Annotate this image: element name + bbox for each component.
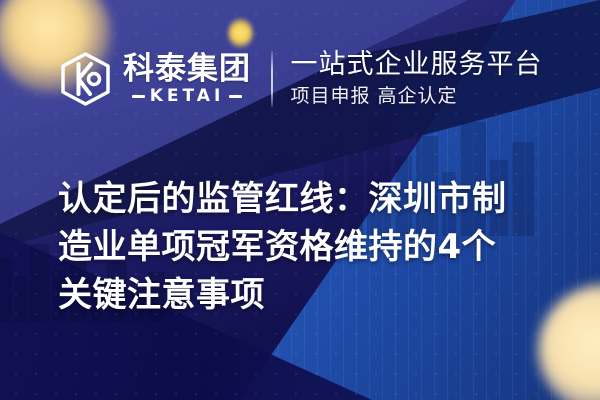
brand-logo[interactable]: 科泰集团 KETAI — [58, 51, 251, 107]
wordmark-rule-left — [132, 95, 145, 98]
page-title: 认定后的监管红线：深圳市制造业单项冠军资格维持的4个关键注意事项 — [58, 175, 528, 320]
tagline-sub: 项目申报 高企认定 — [291, 85, 543, 108]
brand-name-cn: 科泰集团 — [123, 53, 251, 86]
brand-wordmark: 科泰集团 KETAI — [123, 53, 251, 105]
wordmark-rule-right — [229, 95, 242, 98]
header-divider — [271, 51, 273, 107]
brand-name-en-row: KETAI — [132, 88, 243, 105]
tagline-main: 一站式企业服务平台 — [291, 50, 543, 80]
promo-banner: 科泰集团 KETAI 一站式企业服务平台 项目申报 高企认定 认定后的监管红线：… — [0, 0, 600, 400]
brand-name-en: KETAI — [150, 88, 225, 105]
ketai-kp-diamond-logo-icon — [58, 51, 113, 107]
brand-tagline: 一站式企业服务平台 项目申报 高企认定 — [291, 50, 543, 107]
banner-header: 科泰集团 KETAI 一站式企业服务平台 项目申报 高企认定 — [58, 46, 543, 112]
